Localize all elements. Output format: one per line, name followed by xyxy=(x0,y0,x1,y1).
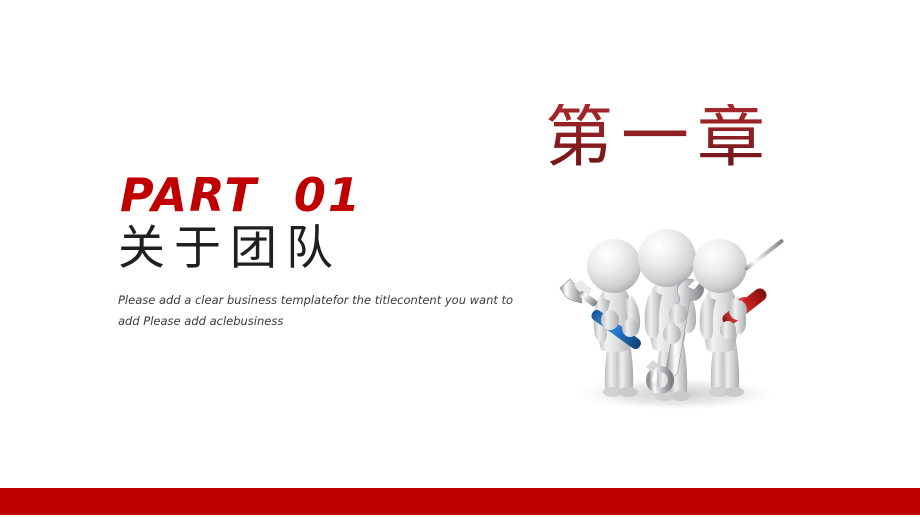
figure-head xyxy=(587,239,641,293)
figure-center-with-wrench xyxy=(638,229,704,401)
body-paragraph: Please add a clear business templatefor … xyxy=(118,290,526,333)
figure-head xyxy=(638,229,696,287)
footer-accent-band xyxy=(0,488,920,515)
chapter-heading: 第一章 xyxy=(545,104,773,172)
slide-canvas: PART 01 关于团队 Please add a clear business… xyxy=(0,0,920,518)
page-title: 关于团队 xyxy=(118,222,538,276)
figure-left-with-hammer xyxy=(560,239,643,397)
figure-right-with-screwdriver xyxy=(693,238,784,397)
figure-head xyxy=(693,239,747,293)
left-text-block: PART 01 关于团队 Please add a clear business… xyxy=(118,172,538,333)
three-figures-illustration xyxy=(548,222,798,417)
part-number-label: PART 01 xyxy=(120,172,538,218)
